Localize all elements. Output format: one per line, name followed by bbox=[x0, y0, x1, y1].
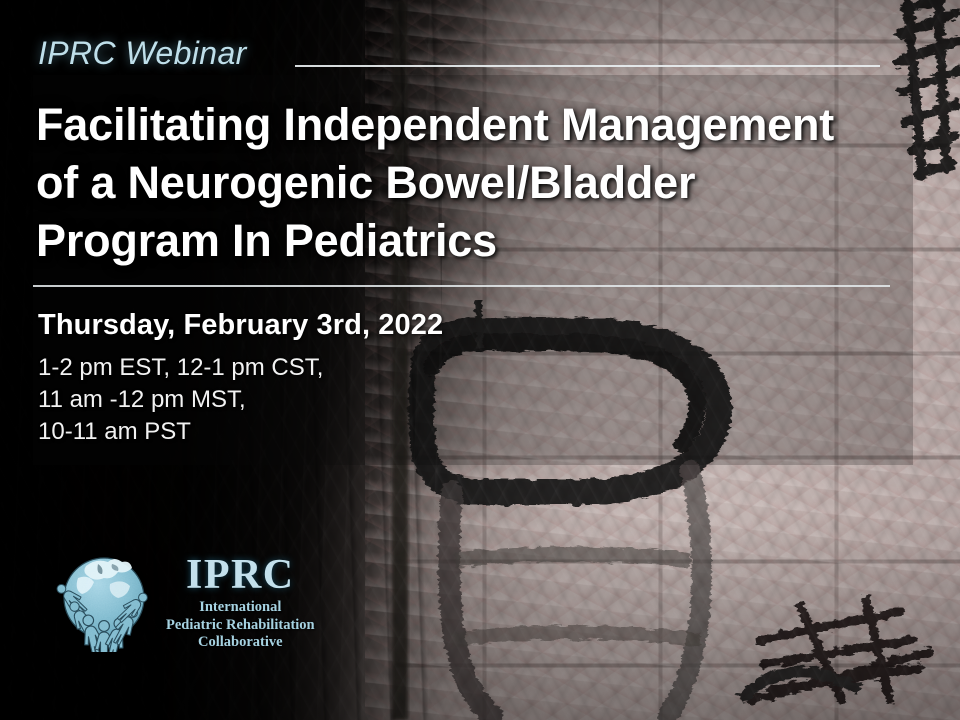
title-line-1: Facilitating Independent Management bbox=[36, 96, 916, 154]
eyebrow-label: IPRC Webinar bbox=[38, 35, 247, 72]
webinar-promo-slide: IPRC Webinar Facilitating Independent Ma… bbox=[0, 0, 960, 720]
logo-subtitle: International Pediatric Rehabilitation C… bbox=[166, 599, 315, 652]
page-title: Facilitating Independent Management of a… bbox=[36, 96, 916, 270]
title-line-3: Program In Pediatrics bbox=[36, 212, 916, 270]
event-date: Thursday, February 3rd, 2022 bbox=[38, 309, 443, 342]
divider-rule-top bbox=[295, 65, 880, 67]
logo-wordmark: IPRC International Pediatric Rehabilitat… bbox=[166, 554, 315, 652]
event-time-line-3: 10-11 am PST bbox=[38, 416, 323, 448]
divider-rule-bottom bbox=[33, 285, 890, 287]
event-times: 1-2 pm EST, 12-1 pm CST, 11 am -12 pm MS… bbox=[38, 352, 323, 448]
slide-content: IPRC Webinar Facilitating Independent Ma… bbox=[0, 0, 960, 720]
logo-acronym: IPRC bbox=[166, 554, 315, 596]
event-time-line-2: 11 am -12 pm MST, bbox=[38, 384, 323, 416]
title-line-2: of a Neurogenic Bowel/Bladder bbox=[36, 154, 916, 212]
logo-subtitle-line-2: Pediatric Rehabilitation bbox=[166, 617, 315, 635]
iprc-logo: IPRC International Pediatric Rehabilitat… bbox=[48, 546, 310, 664]
logo-subtitle-line-1: International bbox=[166, 599, 315, 617]
logo-subtitle-line-3: Collaborative bbox=[166, 634, 315, 652]
event-time-line-1: 1-2 pm EST, 12-1 pm CST, bbox=[38, 352, 323, 384]
globe-with-people-ring-icon bbox=[48, 548, 160, 652]
